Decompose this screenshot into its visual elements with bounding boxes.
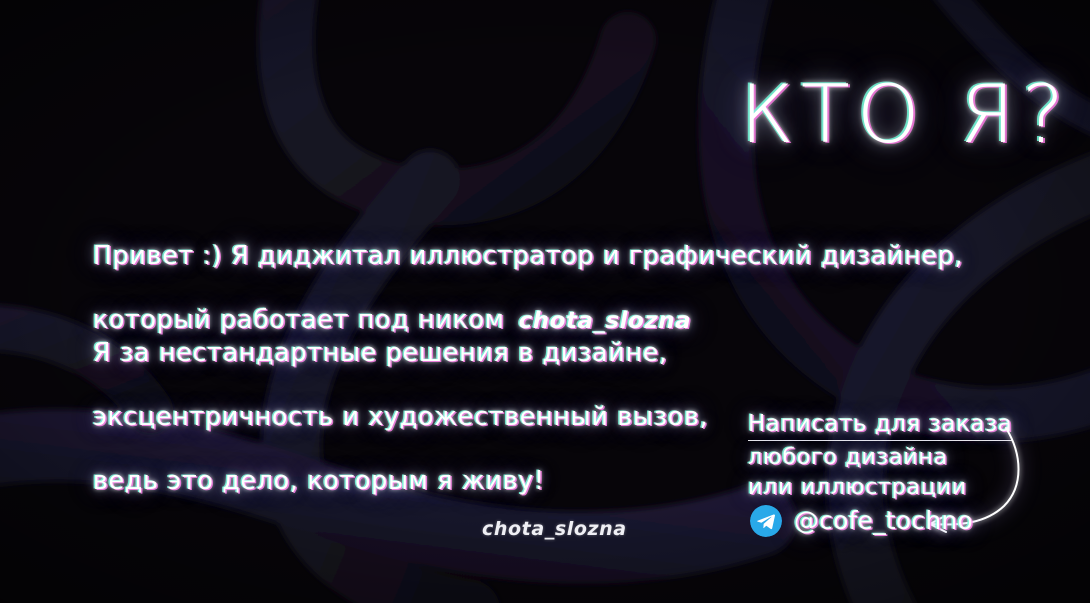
statement-line-1: Я за нестандартные решения в дизайне, [93, 338, 668, 368]
intro-line-1: Привет :) Я диджитал иллюстратор и графи… [93, 241, 963, 271]
slide-canvas: КТО Я? Привет :) Я диджитал иллюстратор … [0, 0, 1090, 603]
statement-line-2: эксцентричность и художественный вызов, [93, 402, 708, 432]
watermark-signature: chota_slozna [482, 518, 627, 540]
telegram-icon[interactable] [750, 505, 782, 537]
telegram-contact-row[interactable]: @cofe_tochno [750, 505, 973, 537]
telegram-handle[interactable]: @cofe_tochno [794, 506, 973, 536]
page-title: КТО Я? [740, 72, 1020, 158]
statement-line-3: ведь это дело, которым я живу! [93, 466, 545, 496]
statement-paragraph: Я за нестандартные решения в дизайне, эк… [58, 305, 708, 529]
